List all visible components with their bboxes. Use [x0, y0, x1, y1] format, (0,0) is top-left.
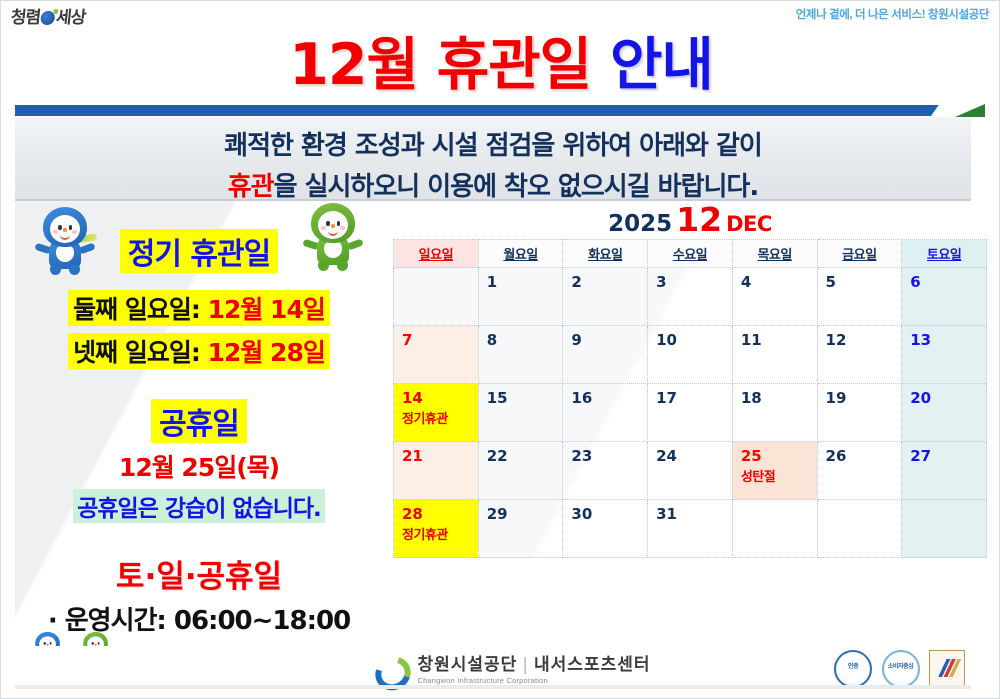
title-area: 12월 휴관일 안내 — [1, 27, 1000, 103]
organization-name-block: 창원시설공단|내서스포츠센터 Changwon Infrastructure C… — [417, 650, 650, 685]
organization-name-en: Changwon Infrastructure Corporation — [417, 676, 650, 685]
public-holiday-note: 공휴일은 강습이 없습니다. — [73, 489, 325, 523]
calendar-day-number: 3 — [648, 268, 732, 291]
badge-1-text: 인증 — [836, 663, 870, 670]
blue-divider-rule — [15, 105, 971, 116]
mascot-face — [39, 636, 56, 646]
calendar-day-cell: 8 — [478, 326, 563, 384]
calendar-day-cell: 5 — [817, 268, 902, 326]
calendar-day-number: 16 — [563, 384, 647, 407]
weekend-hours-heading: 토·일·공휴일 — [15, 551, 383, 596]
notice-line-2-rest: 을 실시하오니 이용에 착오 없으시길 바랍니다. — [274, 172, 759, 202]
mascot-eye-left — [326, 221, 330, 226]
calendar-day-cell: 30 — [563, 500, 648, 558]
day-header-saturday: 토요일 — [902, 240, 987, 268]
mascot-eye-right — [69, 225, 73, 230]
mascot-face — [50, 215, 80, 243]
calendar-day-cell: 6 — [902, 268, 987, 326]
mascot-green — [307, 201, 359, 271]
calendar-day-cell: 9 — [563, 326, 648, 384]
mini-mascot-blue — [33, 631, 62, 646]
calendar-day-cell: 29 — [478, 500, 563, 558]
mascot-leg-left — [50, 265, 61, 275]
page-title: 12월 휴관일 안내 — [1, 27, 1000, 103]
regular-row-2-value: 12월 28일 — [208, 338, 325, 367]
swoosh-icon — [373, 654, 407, 682]
notice-highlight: 휴관 — [228, 172, 274, 202]
calendar-day-number: 17 — [648, 384, 732, 407]
integrity-logo: 청렴세상 — [10, 3, 87, 28]
calendar-day-number: 18 — [733, 384, 817, 407]
calendar-day-number: 5 — [818, 268, 902, 291]
slogan-text: 언제나 곁에, 더 나은 서비스! 창원시설공단 — [796, 6, 989, 22]
calendar-empty-cell — [732, 500, 817, 558]
calendar-week-row: 14정기휴관151617181920 — [394, 384, 987, 442]
calendar-day-header-row: 일요일 월요일 화요일 수요일 목요일 금요일 토요일 — [394, 240, 987, 268]
calendar-grid: 일요일 월요일 화요일 수요일 목요일 금요일 토요일 123456789101… — [393, 239, 987, 558]
day-header-thursday: 목요일 — [732, 240, 817, 268]
calendar-body: 1234567891011121314정기휴관15161718192021222… — [394, 268, 987, 558]
public-holiday-date: 12월 25일(목) — [15, 448, 383, 484]
calendar-day-cell: 31 — [648, 500, 733, 558]
calendar-day-cell: 22 — [478, 442, 563, 500]
mascot-cheek-right — [340, 226, 345, 230]
calendar-day-cell: 26 — [817, 442, 902, 500]
calendar-day-cell: 21 — [394, 442, 479, 500]
calendar-day-number: 31 — [648, 500, 732, 523]
regular-row-2-key: 넷째 일요일: — [73, 338, 200, 367]
info-panel: 정기 휴관일 둘째 일요일: 12월 14일 넷째 일요일: 12월 28일 공… — [15, 201, 383, 646]
organization-name-line: 창원시설공단|내서스포츠센터 — [417, 650, 650, 675]
mascot-face — [318, 211, 348, 239]
globe-icon — [40, 11, 55, 25]
mascot-cheek-left — [321, 226, 326, 230]
regular-closure-row-2: 넷째 일요일: 12월 28일 — [15, 326, 383, 369]
calendar-day-number: 11 — [733, 326, 817, 349]
mascot-eye-right — [50, 642, 52, 645]
notice-line-2: 휴관을 실시하오니 이용에 착오 없으시길 바랍니다. — [15, 166, 971, 203]
mini-mascot-green — [81, 631, 110, 646]
regular-row-1-value: 12월 14일 — [208, 295, 325, 324]
page-title-blue: 안내 — [610, 32, 713, 98]
poster-root: 청렴세상 언제나 곁에, 더 나은 서비스! 창원시설공단 12월 휴관일 안내… — [0, 0, 1000, 699]
calendar-day-cell: 15 — [478, 384, 563, 442]
calendar-day-number: 15 — [479, 384, 563, 407]
calendar-day-number: 21 — [394, 442, 478, 465]
calendar-day-cell: 7 — [394, 326, 479, 384]
calendar-day-cell: 13 — [902, 326, 987, 384]
calendar-day-number: 28 — [394, 500, 478, 523]
notice-banner: 쾌적한 환경 조성과 시설 점검을 위하여 아래와 같이 휴관을 실시하오니 이… — [15, 117, 971, 201]
calendar-day-cell: 25성탄절 — [732, 442, 817, 500]
mascot-eye-right — [337, 221, 341, 226]
calendar-day-number: 13 — [902, 326, 986, 349]
mini-mascot-group — [33, 600, 153, 642]
calendar-day-cell: 23 — [563, 442, 648, 500]
calendar-day-number: 19 — [818, 384, 902, 407]
consumer-centered-badge: 소비자중심 — [882, 650, 920, 688]
calendar-day-cell: 10 — [648, 326, 733, 384]
integrity-logo-left: 청렴 — [10, 8, 41, 28]
calendar-day-number: 7 — [394, 326, 478, 349]
mascot-leg-left — [318, 261, 329, 271]
mascot-blue — [39, 205, 91, 275]
calendar-day-cell: 24 — [648, 442, 733, 500]
mascot-leg-right — [69, 265, 80, 275]
calendar-day-number: 30 — [563, 500, 647, 523]
footer-rule — [15, 685, 971, 689]
public-holiday-section: 공휴일 12월 25일(목) 공휴일은 강습이 없습니다. — [15, 399, 383, 523]
name-separator: | — [522, 655, 529, 675]
calendar-day-number: 14 — [394, 384, 478, 407]
calendar: 202512DEC 일요일 월요일 화요일 수요일 목요일 금요일 토요일 12… — [393, 201, 987, 639]
regular-closure-heading: 정기 휴관일 — [120, 229, 278, 273]
calendar-day-cell: 19 — [817, 384, 902, 442]
page-title-red: 12월 휴관일 — [289, 32, 591, 98]
mascot-nose — [63, 228, 67, 232]
day-header-monday: 월요일 — [478, 240, 563, 268]
calendar-month-name: DEC — [726, 212, 772, 236]
notice-line-1: 쾌적한 환경 조성과 시설 점검을 위하여 아래와 같이 — [15, 125, 971, 162]
calendar-day-cell: 16 — [563, 384, 648, 442]
calendar-day-cell: 4 — [732, 268, 817, 326]
integrity-logo-right: 세상 — [55, 8, 86, 28]
top-strip: 청렴세상 언제나 곁에, 더 나은 서비스! 창원시설공단 — [1, 1, 1000, 27]
mascot-eye-left — [44, 642, 46, 645]
mascot-cheek-right — [72, 230, 77, 234]
calendar-empty-cell — [394, 268, 479, 326]
calendar-day-cell: 27 — [902, 442, 987, 500]
regular-closure-row-1: 둘째 일요일: 12월 14일 — [15, 283, 383, 326]
calendar-day-number: 6 — [902, 268, 986, 291]
regular-row-1-key: 둘째 일요일: — [73, 295, 200, 324]
facility-name: 내서스포츠센터 — [534, 655, 650, 675]
calendar-day-number: 29 — [479, 500, 563, 523]
calendar-day-number: 8 — [479, 326, 563, 349]
calendar-day-label: 정기휴관 — [394, 407, 478, 427]
day-header-tuesday: 화요일 — [563, 240, 648, 268]
calendar-week-row: 28정기휴관293031 — [394, 500, 987, 558]
day-header-friday: 금요일 — [817, 240, 902, 268]
mascot-nose — [331, 224, 335, 228]
day-header-wednesday: 수요일 — [648, 240, 733, 268]
calendar-day-number: 20 — [902, 384, 986, 407]
organization-logo: 창원시설공단|내서스포츠센터 Changwon Infrastructure C… — [373, 650, 651, 686]
certification-badge-1: 인증 — [834, 650, 872, 688]
calendar-day-number: 24 — [648, 442, 732, 465]
public-holiday-heading: 공휴일 — [151, 399, 247, 443]
calendar-day-number: 26 — [818, 442, 902, 465]
mascot-eye-left — [58, 225, 62, 230]
award-badge — [929, 650, 965, 686]
calendar-day-number: 12 — [818, 326, 902, 349]
organization-name-kr: 창원시설공단 — [417, 655, 517, 675]
calendar-day-number: 27 — [902, 442, 986, 465]
mascot-eye-right — [98, 642, 100, 645]
calendar-day-cell: 17 — [648, 384, 733, 442]
day-header-sunday: 일요일 — [394, 240, 479, 268]
calendar-day-cell: 18 — [732, 384, 817, 442]
ribbon-icon — [932, 659, 962, 677]
calendar-week-row: 78910111213 — [394, 326, 987, 384]
calendar-day-number: 23 — [563, 442, 647, 465]
calendar-day-number: 4 — [733, 268, 817, 291]
mascot-cheek-left — [53, 230, 58, 234]
calendar-day-cell: 2 — [563, 268, 648, 326]
calendar-day-cell: 20 — [902, 384, 987, 442]
calendar-day-number: 2 — [563, 268, 647, 291]
calendar-day-number: 25 — [733, 442, 817, 465]
calendar-empty-cell — [817, 500, 902, 558]
certification-badges: 인증 소비자중심 — [829, 650, 965, 686]
calendar-day-number: 1 — [479, 268, 563, 291]
calendar-day-number: 22 — [479, 442, 563, 465]
mascot-leg-right — [337, 261, 348, 271]
mascot-eye-left — [92, 642, 94, 645]
calendar-year: 2025 — [608, 211, 672, 237]
mascot-mouth — [328, 229, 338, 236]
calendar-day-label: 성탄절 — [733, 465, 817, 485]
mascot-mouth — [60, 233, 70, 240]
calendar-day-cell: 12 — [817, 326, 902, 384]
footer: 창원시설공단|내서스포츠센터 Changwon Infrastructure C… — [15, 647, 971, 689]
calendar-week-row: 123456 — [394, 268, 987, 326]
calendar-day-number: 10 — [648, 326, 732, 349]
calendar-month-number: 12 — [676, 200, 722, 239]
badge-2-text: 소비자중심 — [884, 663, 918, 670]
calendar-day-cell: 14정기휴관 — [394, 384, 479, 442]
calendar-day-cell: 11 — [732, 326, 817, 384]
calendar-day-number: 9 — [563, 326, 647, 349]
calendar-day-cell: 3 — [648, 268, 733, 326]
mascot-face — [87, 636, 104, 646]
calendar-day-cell: 1 — [478, 268, 563, 326]
calendar-week-row: 2122232425성탄절2627 — [394, 442, 987, 500]
calendar-day-cell: 28정기휴관 — [394, 500, 479, 558]
calendar-empty-cell — [902, 500, 987, 558]
calendar-day-label: 정기휴관 — [394, 523, 478, 543]
calendar-header: 202512DEC — [393, 201, 987, 239]
